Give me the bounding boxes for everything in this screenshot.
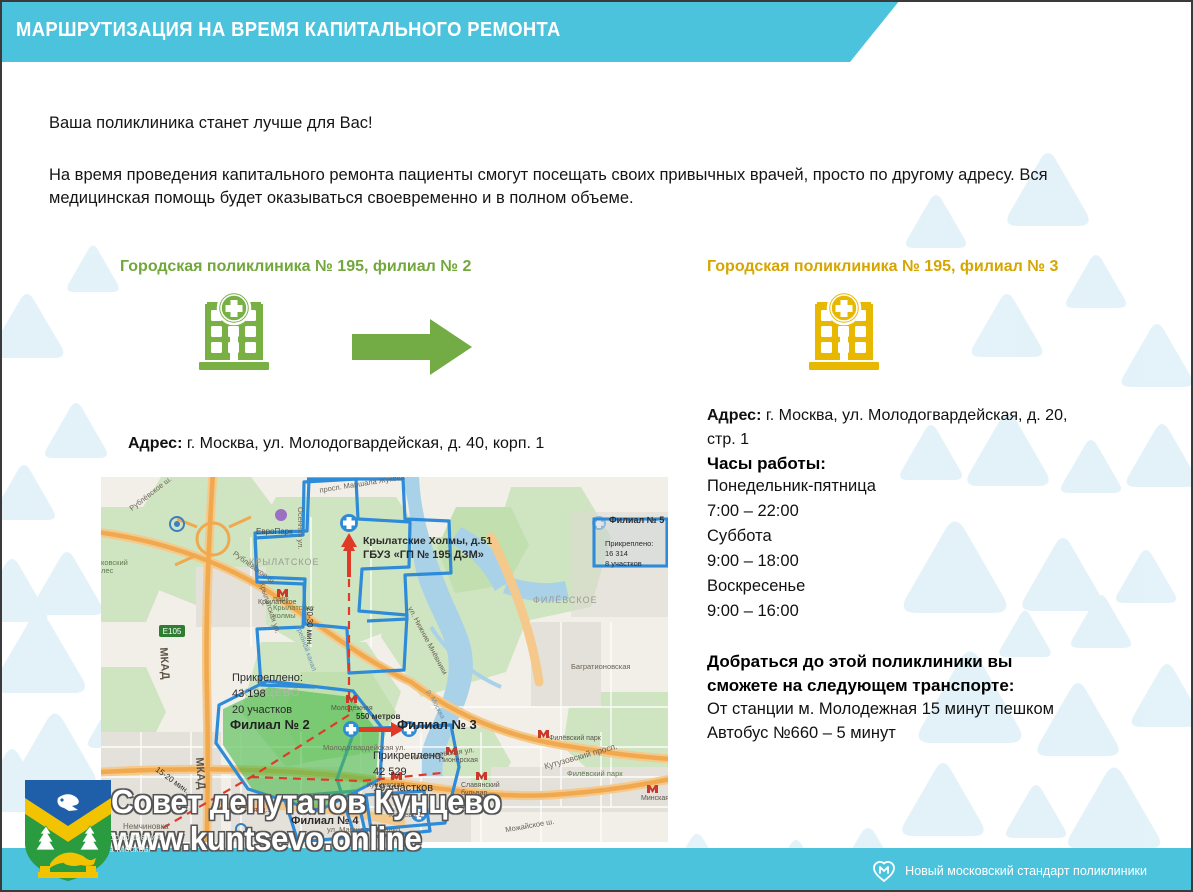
hospital-building-icon — [807, 292, 885, 374]
branch-3-address-value: г. Москва, ул. Молодогвардейская, д. 20,… — [707, 407, 1067, 448]
transport-line: От станции м. Молодежная 15 минут пешком — [707, 698, 1087, 722]
hours-title: Часы работы: — [707, 454, 1087, 474]
transport-line: Автобус №660 – 5 минут — [707, 722, 1087, 746]
page-title: МАРШРУТИЗАЦИЯ НА ВРЕМЯ КАПИТАЛЬНОГО РЕМО… — [16, 19, 561, 42]
watermark: Совет депутатов Кунцево www.kuntsevo.onl… — [111, 784, 501, 858]
moscow-heart-m-logo — [872, 859, 896, 883]
branch-2-address-label: Адрес: — [128, 435, 182, 452]
clinic-branch-2-column: Городская поликлиника № 195, филиал № 2 — [120, 256, 540, 386]
hospital-building-icon — [197, 292, 275, 374]
branch-2-icon-row — [120, 292, 540, 386]
clinic-branch-3-title: Городская поликлиника № 195, филиал № 3 — [707, 256, 1087, 278]
right-arrow-icon — [352, 319, 472, 375]
clinic-branch-2-title: Городская поликлиника № 195, филиал № 2 — [120, 256, 540, 278]
watermark-line-1: Совет депутатов Кунцево — [111, 784, 501, 821]
hours-line: Воскресенье — [707, 574, 1087, 599]
footer-text: Новый московский стандарт поликлиники — [905, 864, 1147, 878]
branch-3-icon-row — [707, 292, 1087, 386]
hours-line: Суббота — [707, 524, 1087, 549]
intro-text: Ваша поликлиника станет лучше для Вас! Н… — [49, 112, 1059, 209]
branch-3-address-label: Адрес: — [707, 407, 761, 424]
hours-line: 7:00 – 22:00 — [707, 499, 1087, 524]
hours-line: 9:00 – 18:00 — [707, 549, 1087, 574]
hours-line: Понедельник-пятница — [707, 474, 1087, 499]
watermark-line-2: www.kuntsevo.online — [111, 821, 501, 858]
intro-body: На время проведения капитального ремонта… — [49, 164, 1059, 209]
transport-title: Добраться до этой поликлиники вы сможете… — [707, 650, 1087, 698]
intro-lead: Ваша поликлиника станет лучше для Вас! — [49, 112, 1059, 134]
kuntsevo-coat-of-arms — [22, 778, 114, 883]
clinic-branch-3-column: Городская поликлиника № 195, филиал № 3 — [707, 256, 1087, 746]
branch-2-address: Адрес: г. Москва, ул. Молодогвардейская,… — [128, 432, 558, 456]
svg-text:E105: E105 — [163, 627, 182, 636]
branch-2-address-value: г. Москва, ул. Молодогвардейская, д. 40,… — [187, 435, 544, 452]
header-banner: МАРШРУТИЗАЦИЯ НА ВРЕМЯ КАПИТАЛЬНОГО РЕМО… — [0, 0, 1193, 62]
hours-line: 9:00 – 16:00 — [707, 599, 1087, 624]
branch-3-address: Адрес: г. Москва, ул. Молодогвардейская,… — [707, 404, 1087, 452]
branch-3-details: Адрес: г. Москва, ул. Молодогвардейская,… — [707, 404, 1087, 746]
footer-brand: Новый московский стандарт поликлиники — [872, 859, 1147, 883]
